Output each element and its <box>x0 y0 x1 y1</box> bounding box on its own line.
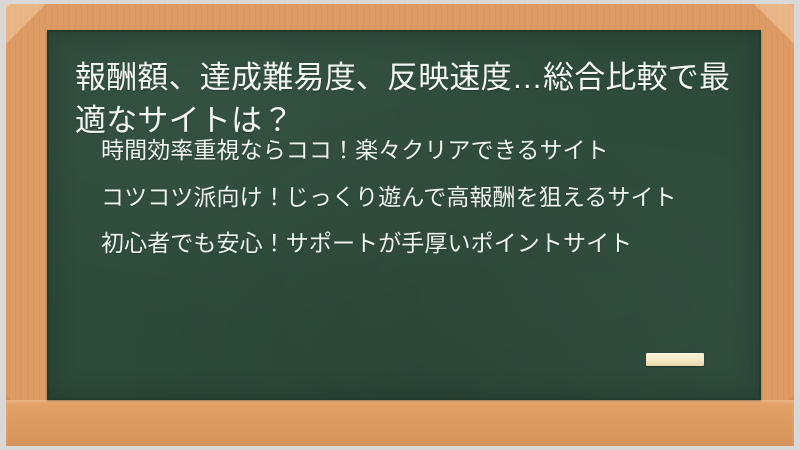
frame-corner-bottom-left <box>6 394 46 446</box>
frame-corner-top-left <box>6 4 46 44</box>
page-title: 報酬額、達成難易度、反映速度…総合比較で最適なサイトは？ <box>75 56 747 143</box>
list-item: 時間効率重視ならココ！楽々クリアできるサイト <box>101 134 761 167</box>
chalk-stick <box>646 353 704 366</box>
chalk-ledge <box>6 400 794 446</box>
chalkboard: 報酬額、達成難易度、反映速度…総合比較で最適なサイトは？ 時間効率重視ならココ！… <box>47 30 761 400</box>
topic-list: 時間効率重視ならココ！楽々クリアできるサイト コツコツ派向け！じっくり遊んで高報… <box>101 134 761 260</box>
wooden-frame: 報酬額、達成難易度、反映速度…総合比較で最適なサイトは？ 時間効率重視ならココ！… <box>6 4 794 446</box>
list-item: 初心者でも安心！サポートが手厚いポイントサイト <box>101 227 761 260</box>
frame-corner-bottom-right <box>754 394 794 446</box>
list-item: コツコツ派向け！じっくり遊んで高報酬を狙えるサイト <box>101 181 761 214</box>
slide-canvas: 報酬額、達成難易度、反映速度…総合比較で最適なサイトは？ 時間効率重視ならココ！… <box>0 0 800 450</box>
